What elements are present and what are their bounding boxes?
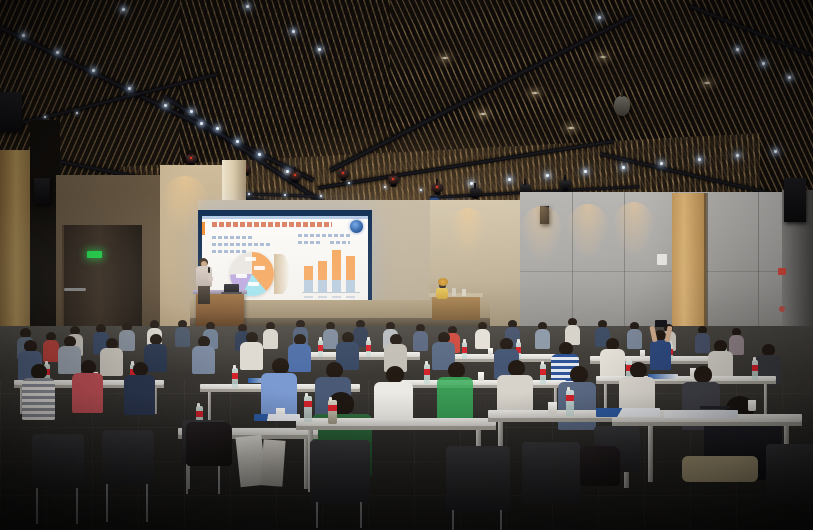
slide-subtext	[212, 236, 252, 239]
bar-axis	[302, 292, 360, 293]
recessed-downlight	[566, 126, 576, 130]
presenter	[196, 258, 212, 304]
conference-hall-photo: Conference hall auditorium during a pres…	[0, 0, 813, 530]
recessed-downlight	[702, 81, 712, 85]
slide-title-text	[212, 222, 332, 227]
bar-tick	[304, 296, 313, 298]
bar-tick	[332, 296, 341, 298]
recessed-downlight	[440, 56, 450, 60]
slide-subtext	[330, 241, 350, 244]
ceiling-dome-speaker	[614, 96, 630, 116]
door-handle[interactable]	[64, 288, 86, 291]
paper-sign	[260, 439, 285, 486]
slide-subtext	[298, 241, 322, 244]
pie-slice-label	[254, 266, 265, 270]
microphone-icon	[208, 267, 210, 273]
exit-sign-icon	[87, 251, 102, 258]
wall-wash-light	[566, 204, 610, 260]
wall-wash-light	[612, 202, 656, 258]
wall-wash-light	[448, 208, 488, 258]
recessed-downlight	[598, 55, 608, 59]
attendee-bag	[186, 422, 232, 466]
floor-items	[0, 400, 813, 530]
wall-plate-icon	[657, 254, 667, 265]
slide-subtext	[298, 234, 350, 237]
pie-shadow	[274, 254, 289, 294]
stage-flower-arrangement	[438, 278, 448, 286]
slide-top-bar	[202, 216, 368, 219]
slide-accent-block	[202, 222, 205, 235]
wall-alarm-icon	[778, 268, 786, 275]
bar-column	[304, 266, 313, 292]
laptop-base	[221, 292, 242, 294]
camera-icon	[655, 320, 667, 327]
slide-subtext	[212, 250, 246, 253]
organization-logo-icon	[350, 220, 363, 233]
wall-speaker	[0, 92, 22, 132]
bar-tick	[346, 296, 355, 298]
wall-wash-light	[520, 206, 564, 262]
pie-slice-label	[245, 257, 256, 261]
recessed-downlight	[478, 112, 488, 116]
slide-subtext	[212, 243, 272, 246]
bar-column	[318, 261, 327, 292]
stage-desk-item	[462, 289, 466, 296]
attendant-body	[436, 288, 448, 299]
pie-slice-label	[236, 274, 247, 278]
bar-column	[346, 256, 355, 292]
slide-bar-chart	[302, 248, 360, 298]
attendee-bag	[580, 446, 620, 486]
recessed-downlight	[530, 91, 540, 95]
bar-column	[332, 250, 341, 292]
pie-slice-label	[248, 282, 259, 286]
stage-desk-item	[452, 288, 456, 296]
recessed-downlights	[0, 0, 813, 200]
wall-speaker	[784, 178, 806, 222]
wall-panel	[520, 270, 813, 272]
wall-speaker	[34, 178, 50, 204]
bar-tick	[318, 296, 327, 298]
